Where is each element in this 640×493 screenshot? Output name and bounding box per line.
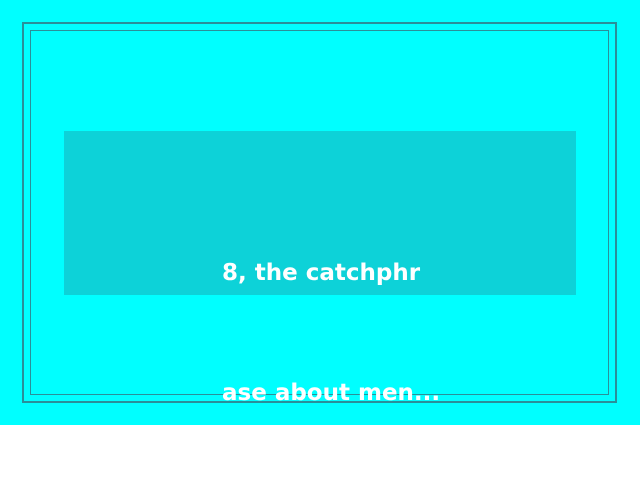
caption-line-2: ase about men... <box>222 373 562 413</box>
caption-line-1: 8, the catchphr <box>222 253 562 293</box>
caption-panel: 8, the catchphr ase about men... <box>64 131 576 295</box>
screenshot-canvas: 8, the catchphr ase about men... <box>0 0 640 425</box>
caption-text-block: 8, the catchphr ase about men... <box>222 173 562 493</box>
